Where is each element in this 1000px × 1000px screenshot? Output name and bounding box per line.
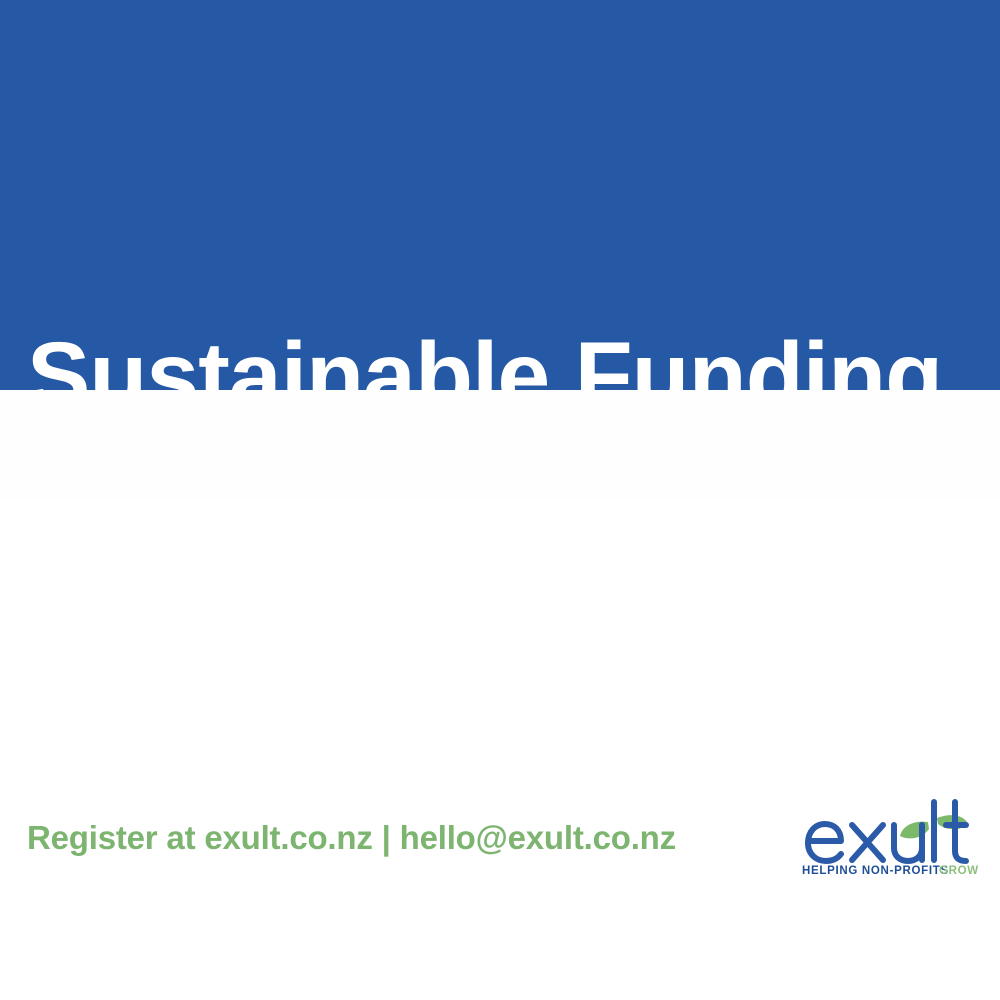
wordmark-exult (808, 802, 966, 861)
footer-band: Register at exult.co.nz | hello@exult.co… (0, 390, 1000, 500)
hero-band: Sustainable Funding Online Workshop (0, 0, 1000, 390)
register-call-to-action[interactable]: Register at exult.co.nz | hello@exult.co… (27, 818, 676, 858)
promotional-banner: Sustainable Funding Online Workshop Regi… (0, 0, 1000, 500)
logo-tagline-primary: HELPING NON-PROFITS (802, 865, 949, 877)
exult-logo[interactable]: HELPING NON-PROFITS GROW (800, 794, 982, 878)
logo-tagline-accent: GROW (939, 865, 979, 877)
